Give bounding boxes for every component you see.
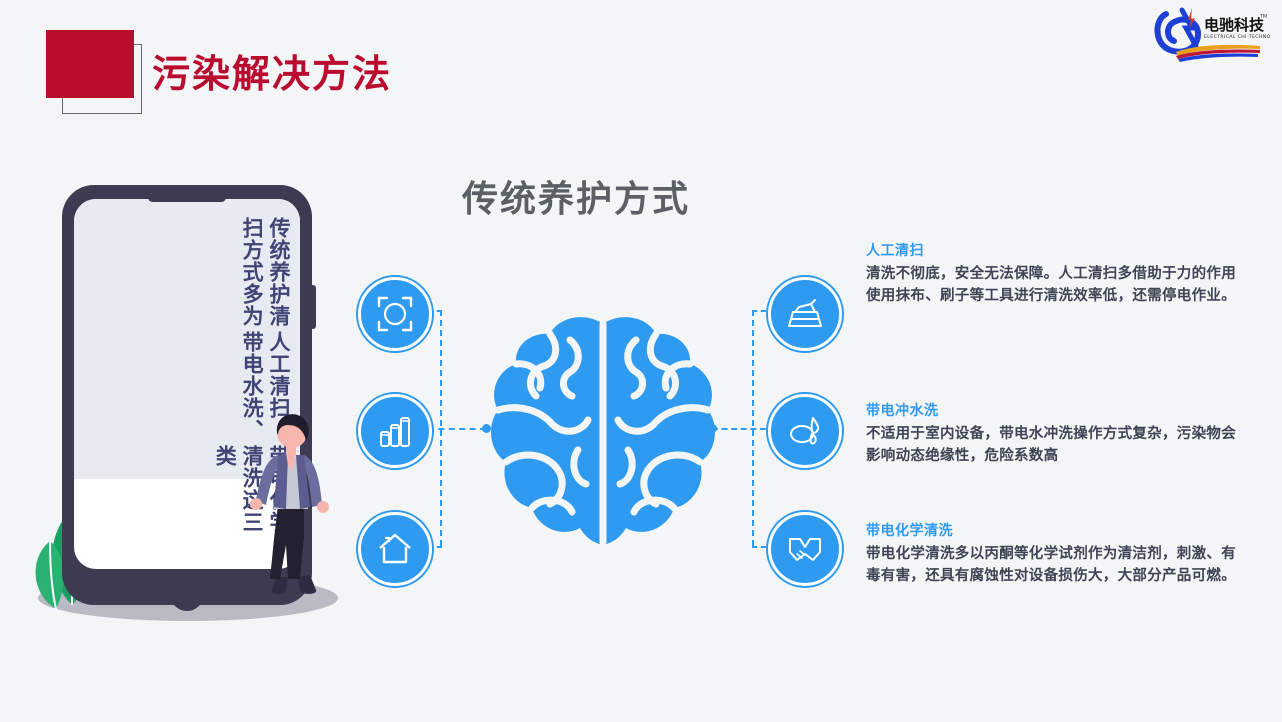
connector-left-dot	[482, 424, 491, 433]
svg-text:电驰科技: 电驰科技	[1204, 16, 1265, 34]
connector-left-main	[428, 428, 486, 430]
node-right-broom[interactable]	[768, 277, 842, 351]
phone-home-button	[170, 577, 204, 611]
person-illustration	[242, 405, 338, 595]
detail-item-1: 人工清扫 清洗不彻底，安全无法保障。人工清扫多借助于力的作用使用抹布、刷子等工具…	[866, 240, 1236, 308]
broom-icon	[786, 295, 824, 333]
detail-item-3-title: 带电化学清洗	[866, 520, 1236, 540]
phone-text-line-1: 传统养护清扫方式多为	[80, 217, 292, 331]
water-spray-icon	[786, 412, 824, 450]
connector-right-main	[712, 428, 766, 430]
house-icon	[376, 530, 414, 568]
handshake-icon	[786, 530, 824, 568]
connector-right-dot	[708, 424, 717, 433]
phone-illustration: 传统养护清扫方式多为 人工清扫、带电水洗、 带电化学清洗这三类	[20, 175, 350, 655]
phone-speaker	[148, 193, 226, 202]
slide-canvas: 污染解决方法 电驰科技 ELECTRICAL CHI TECHNOLOGY TM…	[0, 0, 1282, 722]
svg-text:TM: TM	[1259, 14, 1267, 20]
connector-right-branch-top	[752, 310, 766, 312]
brain-icon	[478, 300, 728, 600]
connector-right-branch-bottom	[752, 546, 766, 548]
scan-focus-icon	[376, 295, 414, 333]
detail-item-2: 带电冲水洗 不适用于室内设备，带电水冲洗操作方式复杂，污染物会影响动态绝缘性，危…	[866, 400, 1236, 468]
detail-item-2-body: 不适用于室内设备，带电水冲洗操作方式复杂，污染物会影响动态绝缘性，危险系数高	[866, 423, 1236, 468]
node-right-handshake[interactable]	[768, 512, 842, 586]
detail-item-3-body: 带电化学清洗多以丙酮等化学试剂作为清洁剂，刺激、有毒有害，还具有腐蚀性对设备损伤…	[866, 543, 1236, 588]
detail-item-2-title: 带电冲水洗	[866, 400, 1236, 420]
detail-item-1-title: 人工清扫	[866, 240, 1236, 260]
svg-text:ELECTRICAL CHI TECHNOLOGY: ELECTRICAL CHI TECHNOLOGY	[1204, 34, 1270, 40]
node-left-house[interactable]	[358, 512, 432, 586]
page-title: 污染解决方法	[152, 43, 392, 98]
phone-side-button	[310, 285, 316, 329]
detail-item-3: 带电化学清洗 带电化学清洗多以丙酮等化学试剂作为清洁剂，刺激、有毒有害，还具有腐…	[866, 520, 1236, 588]
section-heading: 传统养护方式	[462, 170, 690, 222]
node-left-scan[interactable]	[358, 277, 432, 351]
logo-mark: 电驰科技 ELECTRICAL CHI TECHNOLOGY TM	[1148, 4, 1270, 62]
header-square-fill	[46, 30, 134, 98]
detail-item-1-body: 清洗不彻底，安全无法保障。人工清扫多借助于力的作用使用抹布、刷子等工具进行清洗效…	[866, 263, 1236, 308]
bar-chart-icon	[376, 412, 414, 450]
node-left-chart[interactable]	[358, 394, 432, 468]
company-logo: 电驰科技 ELECTRICAL CHI TECHNOLOGY TM	[1148, 4, 1270, 62]
node-right-water[interactable]	[768, 394, 842, 468]
